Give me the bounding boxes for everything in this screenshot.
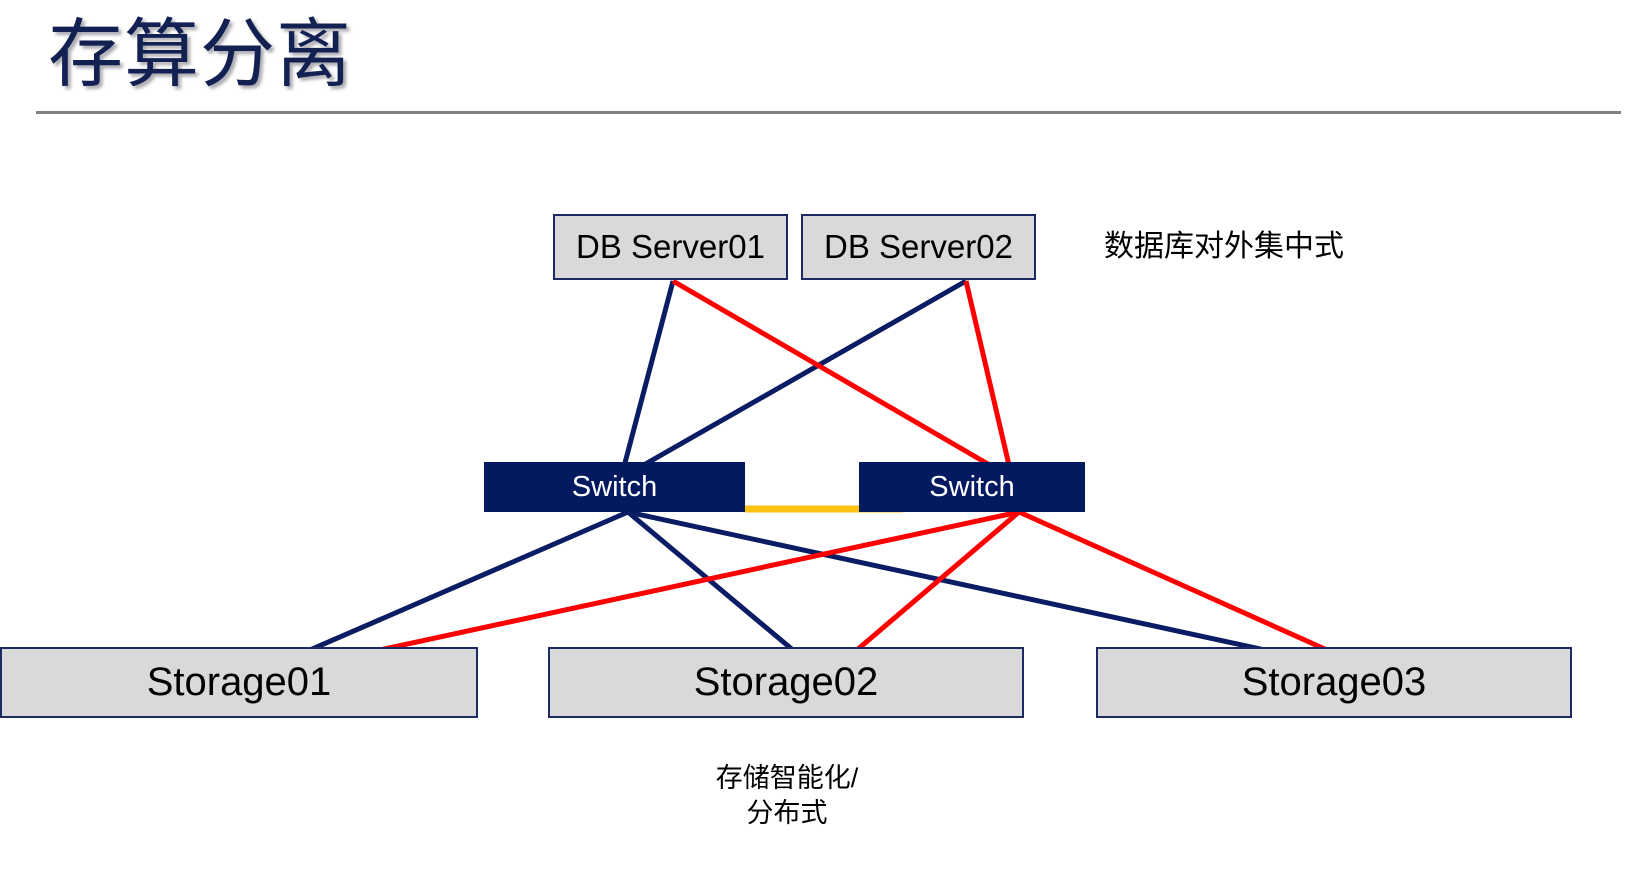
storage-tier-annotation: 存储智能化/ 分布式 [597, 761, 977, 831]
node-storage-01-label: Storage01 [147, 660, 332, 705]
node-storage-03[interactable]: Storage03 [1096, 647, 1572, 718]
node-switch-left[interactable]: Switch [484, 462, 745, 512]
node-db-server-01[interactable]: DB Server01 [553, 214, 788, 280]
node-storage-02-label: Storage02 [694, 660, 879, 705]
node-db-server-02[interactable]: DB Server02 [801, 214, 1036, 280]
db-tier-annotation: 数据库对外集中式 [1104, 226, 1344, 268]
link-dbserver02-to-switch-right [966, 281, 1012, 478]
topology-link-layer [0, 0, 1648, 886]
node-storage-02[interactable]: Storage02 [548, 647, 1024, 718]
node-db-server-02-label: DB Server02 [824, 228, 1013, 266]
storage-tier-annotation-line-1: 存储智能化/ [597, 761, 977, 796]
slide-canvas: 存算分离 DB Server01 DB Server02 数据库对外集中式 Sw… [0, 0, 1648, 886]
link-dbserver01-to-switch-right [673, 281, 1012, 478]
storage-tier-annotation-line-2: 分布式 [597, 796, 977, 831]
node-switch-right-label: Switch [929, 471, 1014, 504]
node-storage-03-label: Storage03 [1242, 660, 1427, 705]
node-switch-right[interactable]: Switch [859, 462, 1085, 512]
link-dbserver02-to-switch-left [621, 281, 966, 478]
link-dbserver01-to-switch-left [621, 281, 673, 478]
node-db-server-01-label: DB Server01 [576, 228, 765, 266]
node-switch-left-label: Switch [572, 471, 657, 504]
node-storage-01[interactable]: Storage01 [0, 647, 478, 718]
